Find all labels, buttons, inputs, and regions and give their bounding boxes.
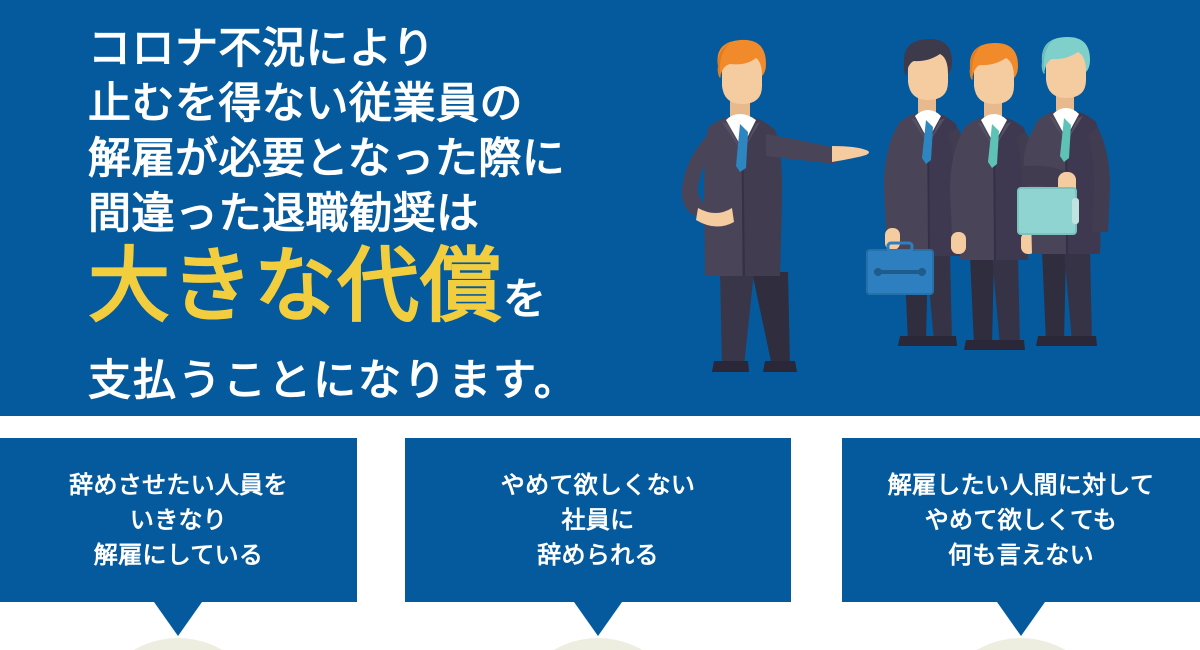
card-blob-1: [90, 638, 266, 650]
emphasis-text: 大きな代償: [88, 241, 503, 332]
headline-emphasis-line: 大きな代償を: [88, 244, 668, 353]
card-text: やめて欲しくない 社員に 辞められる: [493, 468, 703, 573]
card-tail-2: [574, 602, 622, 636]
headline-closing-line: 支払うことになります。: [88, 353, 668, 409]
card-good-staff-leaving[interactable]: やめて欲しくない 社員に 辞められる: [405, 438, 791, 602]
card-tail-3: [997, 602, 1045, 636]
banner-root: コロナ不況により 止むを得ない従業員の 解雇が必要となった際に 間違った退職勧奨…: [0, 0, 1200, 650]
card-dismissal-abrupt[interactable]: 辞めさせたい人員を いきなり 解雇にしている: [0, 438, 357, 602]
card-tail-1: [154, 602, 202, 636]
card-text: 解雇したい人間に対して やめて欲しくても 何も言えない: [880, 468, 1163, 573]
card-cannot-speak-up[interactable]: 解雇したい人間に対して やめて欲しくても 何も言えない: [842, 438, 1200, 602]
emphasis-particle: を: [503, 276, 546, 324]
hero-headline-block: コロナ不況により 止むを得ない従業員の 解雇が必要となった際に 間違った退職勧奨…: [88, 22, 668, 409]
headline-line-3: 解雇が必要となった際に: [88, 132, 668, 187]
businessman-with-folder-icon: [1018, 37, 1110, 346]
hero-illustration: [660, 36, 1160, 396]
cards-section: 辞めさせたい人員を いきなり 解雇にしている やめて欲しくない 社員に 辞められ…: [0, 438, 1200, 650]
card-text: 辞めさせたい人員を いきなり 解雇にしている: [61, 468, 296, 573]
headline-line-2: 止むを得ない従業員の: [88, 77, 668, 132]
hero-section: コロナ不況により 止むを得ない従業員の 解雇が必要となった際に 間違った退職勧奨…: [0, 0, 1200, 416]
pointing-businessman-icon: [682, 40, 869, 372]
headline-line-4: 間違った退職勧奨は: [88, 187, 668, 242]
headline-line-1: コロナ不況により: [88, 22, 668, 77]
card-blob-3: [933, 638, 1109, 650]
card-blob-2: [510, 638, 686, 650]
